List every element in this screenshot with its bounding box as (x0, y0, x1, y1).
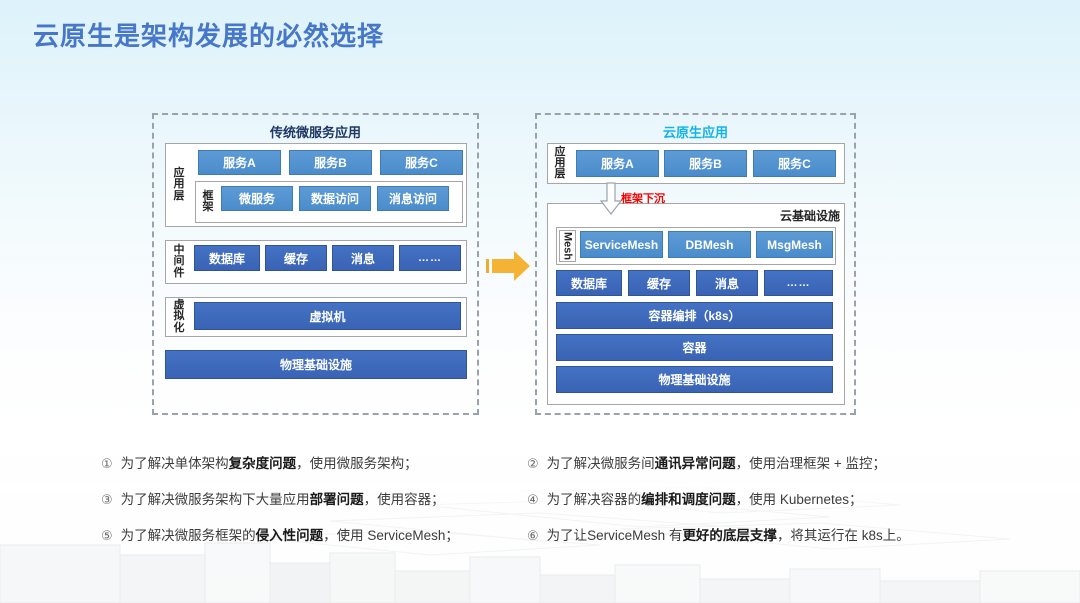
right-middleware-item-3: …… (764, 270, 833, 296)
left-middleware-label-text: 中间件 (174, 245, 185, 279)
right-mesh-item-1: DBMesh (668, 231, 751, 258)
right-middleware-item-0: 数据库 (556, 270, 622, 296)
page-title: 云原生是架构发展的必然选择 (33, 16, 384, 53)
left-service-b: 服务B (289, 150, 372, 175)
note-text-pre: 为了解决微服务架构下大量应用 (121, 492, 310, 507)
note-text: 为了解决容器的编排和调度问题，使用 Kubernetes； (547, 488, 863, 508)
right-mesh-item-0: ServiceMesh (580, 231, 663, 258)
left-app-layer-label-text: 应用层 (174, 168, 185, 202)
note-text: 为了让ServiceMesh 有更好的底层支撑，将其运行在 k8s上。 (547, 524, 910, 544)
note-number: ③ (101, 492, 113, 508)
right-middleware-item-1: 缓存 (628, 270, 690, 296)
right-container-orchestration: 容器编排（k8s） (556, 302, 833, 329)
note-number: ④ (527, 492, 539, 508)
framework-sink-arrow-icon (600, 182, 622, 221)
note-number: ② (527, 456, 539, 472)
left-service-c: 服务C (380, 150, 463, 175)
right-app-layer-label-text: 应用层 (555, 147, 566, 181)
note-text-post: ，使用 ServiceMesh； (323, 528, 459, 543)
right-middleware-item-2: 消息 (696, 270, 758, 296)
note-text-pre: 为了解决单体架构 (121, 456, 229, 471)
left-framework-item-2: 消息访问 (377, 186, 449, 211)
left-middleware-item-1: 缓存 (265, 245, 327, 271)
left-framework-label: 框架 (199, 185, 217, 219)
note-text-post: ，使用 Kubernetes； (736, 492, 863, 507)
left-virtualization-label-text: 虚拟化 (174, 300, 185, 334)
left-framework-item-0: 微服务 (221, 186, 293, 211)
right-mesh-item-2: MsgMesh (756, 231, 833, 258)
left-virtual-machine: 虚拟机 (194, 302, 461, 330)
note-text: 为了解决微服务间通讯异常问题，使用治理框架 + 监控； (547, 452, 886, 472)
left-framework-item-1: 数据访问 (299, 186, 371, 211)
right-service-b: 服务B (664, 150, 747, 177)
note-item-5: ⑤ 为了解决微服务框架的侵入性问题，使用 ServiceMesh； (101, 524, 459, 544)
note-text: 为了解决微服务架构下大量应用部署问题，使用容器； (121, 488, 445, 508)
left-app-layer-label: 应用层 (169, 150, 189, 220)
note-text-post: ，使用容器； (364, 492, 445, 507)
left-physical-infrastructure: 物理基础设施 (165, 350, 467, 379)
right-service-a: 服务A (576, 150, 659, 177)
note-text-pre: 为了让ServiceMesh 有 (547, 528, 683, 543)
note-item-1: ① 为了解决单体架构复杂度问题，使用微服务架构； (101, 452, 418, 472)
note-number: ⑥ (527, 528, 539, 544)
note-text-post: ，将其运行在 k8s上。 (777, 528, 910, 543)
note-text: 为了解决单体架构复杂度问题，使用微服务架构； (121, 452, 418, 472)
note-number: ① (101, 456, 113, 472)
right-mesh-label-text: Mesh (562, 232, 574, 260)
note-text-pre: 为了解决微服务框架的 (121, 528, 256, 543)
framework-sink-label: 框架下沉 (621, 190, 665, 206)
note-text-bold: 通讯异常问题 (655, 456, 736, 471)
note-text-bold: 侵入性问题 (256, 528, 324, 543)
note-text-post: ，使用微服务架构； (296, 456, 418, 471)
left-virtualization-label: 虚拟化 (169, 300, 189, 334)
note-text-bold: 复杂度问题 (229, 456, 297, 471)
panel-right-title: 云原生应用 (537, 122, 854, 141)
left-middleware-item-3: …… (399, 245, 461, 271)
note-item-3: ③ 为了解决微服务架构下大量应用部署问题，使用容器； (101, 488, 445, 508)
note-number: ⑤ (101, 528, 113, 544)
left-middleware-item-0: 数据库 (194, 245, 260, 271)
right-mesh-label: Mesh (559, 230, 576, 262)
right-service-c: 服务C (753, 150, 836, 177)
note-item-2: ② 为了解决微服务间通讯异常问题，使用治理框架 + 监控； (527, 452, 886, 472)
note-text-bold: 更好的底层支撑 (682, 528, 777, 543)
left-middleware-item-2: 消息 (332, 245, 394, 271)
left-service-a: 服务A (198, 150, 281, 175)
note-text-post: ，使用治理框架 + 监控； (736, 456, 886, 471)
left-framework-label-text: 框架 (203, 191, 214, 214)
right-physical-infrastructure: 物理基础设施 (556, 366, 833, 393)
panel-traditional-microservice: 传统微服务应用 应用层 服务A 服务B 服务C 框架 微服务 数据访问 消息访问… (152, 113, 479, 415)
note-text-bold: 部署问题 (310, 492, 364, 507)
note-text-pre: 为了解决微服务间 (547, 456, 655, 471)
panel-cloud-native: 云原生应用 应用层 服务A 服务B 服务C 云基础设施 Mesh Service… (535, 113, 856, 415)
note-text: 为了解决微服务框架的侵入性问题，使用 ServiceMesh； (121, 524, 459, 544)
note-text-bold: 编排和调度问题 (641, 492, 736, 507)
right-container: 容器 (556, 334, 833, 361)
panel-left-title: 传统微服务应用 (154, 122, 477, 141)
note-text-pre: 为了解决容器的 (547, 492, 642, 507)
left-middleware-label: 中间件 (169, 244, 189, 280)
note-item-4: ④ 为了解决容器的编排和调度问题，使用 Kubernetes； (527, 488, 862, 508)
right-cloud-infra-label: 云基础设施 (780, 207, 840, 224)
note-item-6: ⑥ 为了让ServiceMesh 有更好的底层支撑，将其运行在 k8s上。 (527, 524, 910, 544)
right-app-layer-label: 应用层 (550, 146, 570, 181)
transition-arrow (484, 248, 532, 289)
